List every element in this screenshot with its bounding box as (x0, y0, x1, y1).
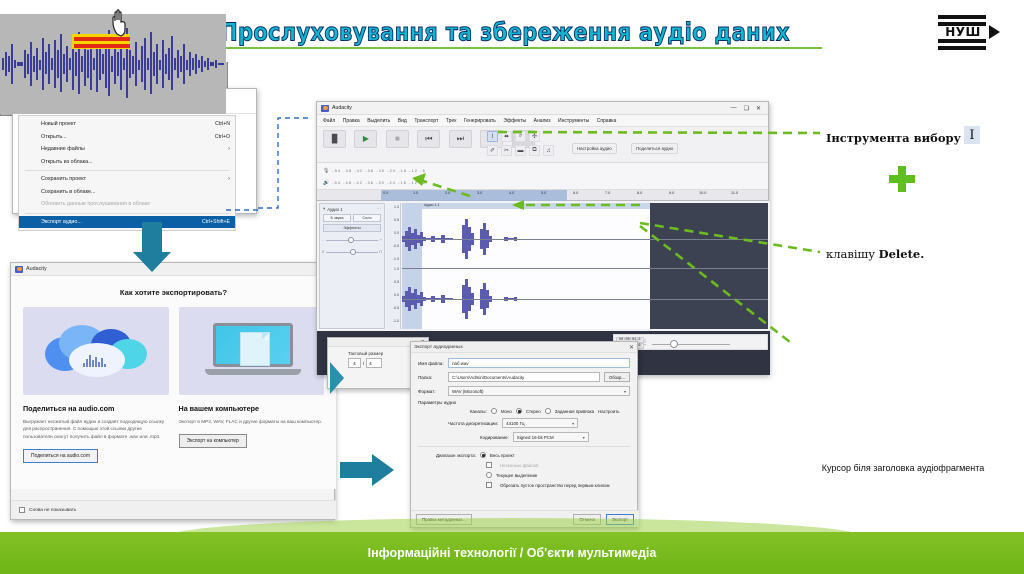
ad-menu-edit[interactable]: Правка (343, 118, 360, 124)
laptop-icon (205, 323, 301, 381)
close-icon-4[interactable]: ✕ (629, 344, 634, 351)
slide-footer: Інформаційні технології / Об'єкти мульти… (0, 532, 1024, 574)
pan-left-label: Л (322, 250, 324, 254)
time-sig-denominator[interactable]: 4 (366, 358, 382, 368)
playback-meter-scale: -54 -48 -42 -36 -30 -24 -18 -12 -6 (332, 181, 426, 185)
menu-save-to-cloud[interactable]: Сохранить в облаке... (19, 186, 235, 199)
track-gain-slider[interactable]: - + (326, 236, 378, 244)
ad-menu-generate[interactable]: Генерировать (464, 118, 496, 124)
channel-custom-radio[interactable] (545, 408, 551, 414)
ad-menu-view[interactable]: Вид (398, 118, 407, 124)
menu-save-project-label: Сохранить проект (41, 176, 86, 182)
ruler-tick-4: 4.0 (509, 191, 514, 195)
channel-mono-label: Моно (501, 409, 512, 414)
zoom-slider-track[interactable] (652, 344, 730, 345)
encoding-label: Кодирование: (480, 435, 509, 440)
vscale-4: -1.0 (393, 257, 399, 261)
sync-icon: ⧉ (532, 147, 536, 154)
magnifier-icon: ⌕ (519, 133, 522, 140)
close-icon-2[interactable]: ✕ (756, 105, 761, 112)
ruler-tick-3: 3.0 (477, 191, 482, 195)
play-button[interactable]: ▶ (354, 130, 377, 148)
range-row: Диапазон экспорта: Весь проект (436, 452, 630, 458)
track-header: ▾ Аудио 1 ⋯ (320, 204, 384, 214)
menu-update-cloud-audio-label: Обновить данные прослушивания в облаке (41, 201, 150, 207)
samplerate-label: Частота дискретизации: (448, 421, 498, 426)
channel-mono-radio[interactable] (491, 408, 497, 414)
i-beam-icon: I (492, 134, 494, 140)
computer-option-text: Экспорт в MP3, WAV, FLAC и другие формат… (179, 418, 325, 425)
playback-meter[interactable]: 🔊 -54 -48 -42 -36 -30 -24 -18 -12 -6 (323, 177, 768, 189)
vscale-8: -0.5 (393, 306, 399, 310)
skip-to-start-button[interactable]: ⏮ (417, 130, 440, 148)
folder-input[interactable]: C:\Users\Admin\Documents\Audacity (448, 372, 600, 382)
skip-to-end-button[interactable]: ⏭ (449, 130, 472, 148)
annotation-selection-tool: Інструмента вибору (826, 131, 961, 145)
trim-tool-button[interactable]: ✂ (501, 145, 512, 156)
track-pan-slider[interactable]: Л П (326, 248, 378, 256)
export-audio-dialog: Экспорт аудиоданных ✕ Имя файла: лаб.wav… (410, 341, 638, 528)
ad-menu-track[interactable]: Трек (446, 118, 457, 124)
channel-stereo-label: Стерео (526, 409, 541, 414)
configure-button[interactable]: Настроить (598, 409, 619, 414)
range-label: Диапазон экспорта: (436, 453, 476, 458)
ruler-selection-highlight (381, 190, 567, 201)
vscale-6: 0.5 (394, 280, 399, 284)
menu-new-project-label: Новый проект (41, 121, 76, 127)
file-dropdown-menu[interactable]: Новый проект Ctrl+N Открыть... Ctrl+O Не… (18, 115, 236, 231)
marker-bar-2 (74, 44, 130, 48)
range-multiple-files-row: Несколько файлов (486, 462, 630, 468)
menu-open-shortcut: Ctrl+O (215, 134, 230, 140)
samplerate-select[interactable]: 44100 Гц (502, 418, 578, 428)
vscale-9: -1.0 (393, 319, 399, 323)
envelope-tool-button[interactable]: ⬌ (501, 131, 512, 142)
menu-separator-1 (25, 170, 229, 171)
ruler-tick-1: 1.0 (413, 191, 418, 195)
format-row: Формат: WAV (Microsoft) (418, 386, 630, 396)
timeline-ruler[interactable]: 0.0 1.0 2.0 3.0 4.0 5.0 6.0 7.0 8.0 9.0 … (317, 190, 768, 201)
export-audio-titlebar: Экспорт аудиоданных ✕ (411, 342, 637, 353)
ad-menu-tools[interactable]: Инструменты (558, 118, 589, 124)
audacity-menubar[interactable]: Файл Правка Выделить Вид Транспорт Трек … (317, 115, 768, 126)
maximize-icon[interactable]: ❑ (744, 105, 749, 112)
track-collapse-icon[interactable]: ▾ (323, 206, 325, 212)
ruler-tick-0: 0.0 (383, 191, 388, 195)
vscale-3: -0.5 (393, 244, 399, 248)
ruler-tick-5: 5.0 (541, 191, 546, 195)
menu-recent-files-label: Недавние файлы (41, 146, 85, 152)
nush-logo: НУШ (938, 14, 1004, 50)
ruler-tick-6: 6.0 (573, 191, 578, 195)
export-choice-footer: Снова не показывать (11, 500, 336, 519)
menu-new-project[interactable]: Новый проект Ctrl+N (19, 118, 235, 131)
audacity-app-icon-3 (321, 105, 329, 112)
menu-open-from-cloud-label: Открыть из облака... (41, 159, 93, 165)
waveform-channel-left (402, 209, 768, 269)
range-multiple-files-label: Несколько файлов (500, 463, 539, 468)
share-audio-button[interactable]: Поделиться аудио (631, 143, 678, 154)
scissors-icon: ✂ (504, 147, 509, 154)
annotation-delete-prefix: клавішу (826, 247, 879, 261)
tools-toolbar: I ⬌ ⌕ ✣ ✐ ✂ ▬ ⧉ ♫ (487, 131, 559, 159)
trim-silence-label: Обрезать пустое пространство перед первы… (500, 483, 610, 488)
nush-bar-4 (938, 46, 986, 50)
ad-menu-transport[interactable]: Транспорт (414, 118, 438, 124)
track-mute-button[interactable]: Б звука (323, 214, 351, 222)
menu-open-from-cloud[interactable]: Открыть из облака... (19, 156, 235, 169)
footer-text: Інформаційні технології / Об'єкти мульти… (368, 546, 657, 560)
export-to-computer-button[interactable]: Экспорт на компьютер (179, 434, 247, 448)
track-area: ▾ Аудио 1 ⋯ Б звука Соло Эффекты - + Л П… (317, 201, 770, 331)
menu-separator-2 (25, 213, 229, 214)
ruler-tick-8: 8.0 (637, 191, 642, 195)
menu-export-audio[interactable]: Экспорт аудио... Ctrl+Shift+E (19, 216, 235, 229)
audacity-app-icon-2 (15, 266, 23, 273)
export-choice-body: Как хотите экспортировать? (11, 276, 336, 489)
filename-row: Имя файла: лаб.wav (418, 358, 630, 368)
silence-tool-button[interactable]: ▬ (515, 145, 526, 156)
pan-right-label: П (379, 250, 382, 254)
sync-tool-button[interactable]: ⧉ (529, 145, 540, 156)
multi-tool-button[interactable]: ✣ (529, 131, 540, 142)
speaker-icon: 🔊 (323, 180, 329, 186)
skip-end-icon: ⏭ (457, 135, 464, 143)
ad-menu-effects[interactable]: Эффекты (503, 118, 526, 124)
filename-input[interactable]: лаб.wav (448, 358, 630, 368)
document-icon (240, 332, 270, 366)
ruler-tick-2: 2.0 (445, 191, 450, 195)
vscale-5: 1.0 (394, 267, 399, 271)
recording-meter-scale: -54 -48 -42 -36 -30 -24 -18 -12 -6 (332, 169, 426, 173)
divider (418, 446, 630, 447)
clip-name-label: Аудио 1-1 (424, 203, 439, 207)
microphone-icon: 🎙 (323, 168, 329, 174)
range-current-selection-radio[interactable] (486, 472, 492, 478)
ruler-tick-11: 11.0 (731, 191, 738, 195)
pause-button[interactable]: ▐▌ (323, 130, 346, 148)
samplerate-row: Частота дискретизации: 44100 Гц (448, 418, 630, 428)
vscale-7: 0.0 (394, 293, 399, 297)
trim-row: Обрезать пустое пространство перед первы… (486, 482, 630, 488)
encoding-select[interactable]: Signed 16-bit PCM (513, 432, 589, 442)
zoom-level-icon: ⋮ (642, 339, 648, 346)
cloud-illustration (23, 307, 169, 395)
ad-menu-help[interactable]: Справка (597, 118, 617, 124)
track-control-panel[interactable]: ▾ Аудио 1 ⋯ Б звука Соло Эффекты - + Л П (319, 203, 385, 329)
vscale-0: 1.0 (394, 205, 399, 209)
skip-start-icon: ⏮ (425, 135, 432, 143)
channel-stereo-radio[interactable] (516, 408, 522, 414)
export-choice-titlebar: Audacity ✕ (11, 263, 334, 276)
draw-tool-button[interactable]: ✐ (487, 145, 498, 156)
browse-button[interactable]: Обзор... (604, 372, 630, 382)
title-underline (196, 47, 822, 49)
play-icon: ▶ (363, 135, 369, 143)
franko-caption: Курсор біля заголовка аудіофрагмента (788, 462, 1018, 474)
ad-menu-analyze[interactable]: Анализ (534, 118, 551, 124)
ruler-tick-10: 10.0 (699, 191, 706, 195)
filename-label: Имя файла: (418, 361, 448, 366)
track-effects-button[interactable]: Эффекты (323, 224, 381, 232)
cloud-option-heading: Поделиться на audio.com (23, 404, 169, 413)
nush-arrow-icon (989, 25, 1000, 39)
menu-save-to-cloud-label: Сохранить в облаке... (41, 189, 96, 195)
laptop-base (205, 369, 301, 375)
folder-row: Папка: C:\Users\Admin\Documents\Audacity… (418, 372, 630, 382)
format-select[interactable]: WAV (Microsoft) (448, 386, 630, 396)
menu-new-project-shortcut: Ctrl+N (215, 121, 230, 127)
cloud-icon (45, 325, 149, 381)
time-sig-numerator[interactable]: 4 (348, 358, 361, 368)
audacity-meter-toolbar: 🎙 -54 -48 -42 -36 -30 -24 -18 -12 -6 🔊 -… (317, 163, 768, 190)
audio-setup-button[interactable]: Настройка аудио (572, 143, 617, 154)
annotation-delete-key: клавішу Delete. (826, 247, 924, 261)
connector-blue-1 (258, 118, 310, 208)
export-choice-dialog: Audacity ✕ Как хотите экспортировать? (10, 262, 335, 520)
channels-label: Каналы: (470, 409, 487, 414)
export-choice-title: Audacity (26, 266, 47, 272)
audacity-window-title: Audacity (332, 105, 352, 111)
waveform-canvas[interactable]: Аудио 1-1 (402, 203, 768, 329)
menu-open-label: Открыть... (41, 134, 67, 140)
page-title: Прослуховування та збереження аудіо дани… (180, 18, 830, 46)
audio-params-label: Параметры аудио (418, 400, 630, 405)
pause-icon: ▐▌ (329, 135, 340, 143)
export-option-computer[interactable]: На вашем компьютере Экспорт в MP3, WAV, … (179, 307, 325, 463)
export-option-cloud[interactable]: Поделиться на audio.com Выгружает несжат… (23, 307, 169, 463)
recording-meter[interactable]: 🎙 -54 -48 -42 -36 -30 -24 -18 -12 -6 (323, 165, 768, 177)
trim-silence-checkbox[interactable] (486, 482, 492, 488)
audacity-toolbar: ▐▌ ▶ ■ ⏮ ⏭ ● ↻ I ⬌ ⌕ ✣ ✐ ✂ ▬ ⧉ ♫ Настрой… (317, 126, 768, 163)
ad-menu-select[interactable]: Выделить (367, 118, 390, 124)
multi-tool-icon: ✣ (532, 133, 537, 140)
headphone-tool-button[interactable]: ♫ (543, 145, 554, 156)
dont-show-again-label: Снова не показывать (29, 508, 76, 513)
audacity-titlebar: Audacity — ❑ ✕ (317, 102, 768, 115)
laptop-screen (213, 323, 293, 367)
share-to-audio-com-button[interactable]: Поделиться на audio.com (23, 449, 98, 463)
range-whole-project-label: Весь проект (490, 453, 515, 458)
pencil-icon: ✐ (490, 147, 495, 154)
range-multiple-files-checkbox (486, 462, 492, 468)
laptop-illustration (179, 307, 325, 395)
franko-clip-panel: Франко_вірш (0, 0, 228, 116)
selection-tool-button[interactable]: I (487, 131, 498, 142)
menu-save-project[interactable]: Сохранить проект › (19, 173, 235, 186)
track-name: Аудио 1 (327, 207, 342, 212)
range-selection-row: Текущее выделение (486, 472, 630, 478)
envelope-icon: ⬌ (504, 133, 509, 140)
annotation-delete-key-label: Delete. (879, 247, 925, 261)
i-beam-cursor-icon: I (964, 126, 980, 144)
submenu-arrow-icon: › (228, 146, 230, 152)
plus-icon (889, 166, 915, 192)
channels-row: Каналы: Моно Стерео Заданная привязка На… (470, 408, 630, 414)
zoom-tool-button[interactable]: ⌕ (515, 131, 526, 142)
menu-recent-files[interactable]: Недавние файлы › (19, 143, 235, 156)
nush-logo-text: НУШ (939, 25, 987, 39)
hand-cursor-icon (110, 8, 134, 38)
submenu-arrow-icon-2: › (228, 176, 230, 182)
format-label: Формат: (418, 389, 448, 394)
headphone-icon: ♫ (546, 148, 551, 154)
stop-icon: ■ (395, 135, 400, 143)
vscale-1: 0.5 (394, 218, 399, 222)
waveform-bars-icon (83, 355, 106, 367)
encoding-row: Кодирование: Signed 16-bit PCM (480, 432, 630, 442)
dont-show-again-checkbox[interactable] (19, 507, 25, 513)
ruler-tick-7: 7.0 (605, 191, 610, 195)
minimize-icon[interactable]: — (731, 105, 737, 112)
export-choice-heading: Как хотите экспортировать? (11, 288, 336, 297)
channel-custom-label: Заданная привязка (555, 409, 594, 414)
menu-open[interactable]: Открыть... Ctrl+O (19, 131, 235, 144)
gain-min-label: - (322, 238, 323, 242)
nush-bar-1 (938, 15, 986, 19)
track-menu-icon[interactable]: ⋯ (377, 206, 382, 212)
time-sig-separator: / (363, 361, 364, 366)
range-current-selection-label: Текущее выделение (496, 473, 537, 478)
menu-export-audio-label: Экспорт аудио... (41, 219, 82, 225)
menu-export-audio-shortcut: Ctrl+Shift+E (202, 219, 230, 225)
gain-max-label: + (380, 238, 382, 242)
range-whole-project-radio[interactable] (480, 452, 486, 458)
zoom-slider-knob[interactable] (670, 340, 678, 348)
export-audio-body: Имя файла: лаб.wav Папка: C:\Users\Admin… (411, 353, 637, 488)
waveform-channel-right (402, 269, 768, 329)
arrow-right-1 (340, 454, 394, 486)
audacity-main-window: Audacity — ❑ ✕ Файл Правка Выделить Вид … (316, 101, 769, 375)
vertical-scale-ruler: 1.0 0.5 0.0 -0.5 -1.0 1.0 0.5 0.0 -0.5 -… (386, 203, 401, 329)
nush-bar-3 (938, 39, 986, 43)
cloud-option-text: Выгружает несжатый файл аудио и создаёт … (23, 418, 169, 440)
vscale-2: 0.0 (394, 231, 399, 235)
stop-button[interactable]: ■ (386, 130, 409, 148)
computer-option-heading: На вашем компьютере (179, 404, 325, 413)
folder-label: Папка: (418, 375, 448, 380)
track-solo-button[interactable]: Соло (353, 214, 381, 222)
export-audio-title: Экспорт аудиоданных (414, 345, 463, 350)
menu-update-cloud-audio: Обновить данные прослушивания в облаке (19, 198, 235, 211)
ruler-tick-9: 9.0 (669, 191, 674, 195)
silence-icon: ▬ (518, 148, 524, 154)
ad-menu-file[interactable]: Файл (323, 118, 335, 124)
